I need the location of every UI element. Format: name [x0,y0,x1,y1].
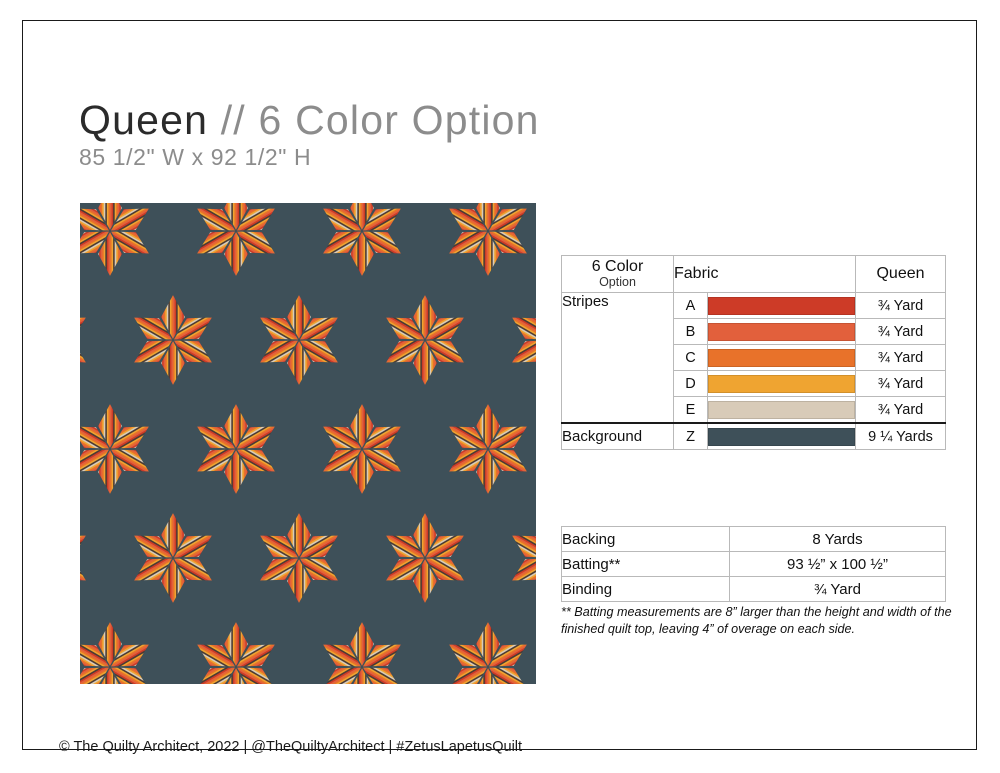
fabric-letter-b: B [674,319,708,345]
table-row: BackgroundZ9 ¼ Yards [562,423,946,450]
header-fabric: Fabric [674,256,856,293]
fabric-swatch-cell-a [708,293,856,319]
fabric-letter-e: E [674,397,708,424]
fabric-yardage-a: ¾ Yard [856,293,946,319]
fabric-letter-a: A [674,293,708,319]
backing-value: ¾ Yard [730,577,946,602]
backing-label: Backing [562,527,730,552]
color-swatch-b [708,323,855,341]
fabric-swatch-cell-e [708,397,856,424]
color-swatch-c [708,349,855,367]
backing-batting-binding-table: Backing8 YardsBatting**93 ½” x 100 ½”Bin… [561,526,946,602]
page-title-sub: // 6 Color Option [221,97,540,143]
table-row: Binding¾ Yard [562,577,946,602]
header-queen: Queen [856,256,946,293]
backing-value: 8 Yards [730,527,946,552]
page-sheet: Queen // 6 Color Option 85 1/2" W x 92 1… [22,20,977,750]
backing-label: Binding [562,577,730,602]
fabric-yardage-d: ¾ Yard [856,371,946,397]
color-swatch-z [708,428,855,446]
fabric-group-background: Background [562,423,674,450]
quilt-diagram [80,203,536,684]
table-row: StripesA¾ Yard [562,293,946,319]
fabric-yardage-b: ¾ Yard [856,319,946,345]
fabric-yardage-e: ¾ Yard [856,397,946,424]
title-block: Queen // 6 Color Option 85 1/2" W x 92 1… [79,99,719,171]
fabric-letter-z: Z [674,423,708,450]
backing-value: 93 ½” x 100 ½” [730,552,946,577]
quilt-preview-image [80,203,536,684]
fabric-group-stripes: Stripes [562,293,674,424]
fabric-swatch-cell-d [708,371,856,397]
backing-table-body: Backing8 YardsBatting**93 ½” x 100 ½”Bin… [562,527,946,602]
fabric-swatch-cell-c [708,345,856,371]
fabric-swatch-cell-z [708,423,856,450]
fabric-table-body: StripesA¾ YardB¾ YardC¾ YardD¾ YardE¾ Ya… [562,293,946,450]
fabric-letter-c: C [674,345,708,371]
fabric-table-header-row: 6 Color Option Fabric Queen [562,256,946,293]
backing-label: Batting** [562,552,730,577]
table-row: Batting**93 ½” x 100 ½” [562,552,946,577]
page-title-main: Queen [79,97,208,143]
fabric-swatch-cell-b [708,319,856,345]
color-swatch-a [708,297,855,315]
header-6-color-main: 6 Color [592,258,644,275]
page-subtitle-dimensions: 85 1/2" W x 92 1/2" H [79,144,719,171]
footer-credit: © The Quilty Architect, 2022 | @TheQuilt… [59,739,522,755]
page-title: Queen // 6 Color Option [79,99,719,142]
header-6-color-option: 6 Color Option [562,256,674,293]
fabric-letter-d: D [674,371,708,397]
fabric-yardage-c: ¾ Yard [856,345,946,371]
color-swatch-d [708,375,855,393]
table-row: Backing8 Yards [562,527,946,552]
fabric-yardage-z: 9 ¼ Yards [856,423,946,450]
color-swatch-e [708,401,855,419]
batting-footnote: ** Batting measurements are 8” larger th… [561,604,971,637]
fabric-requirements-table: 6 Color Option Fabric Queen StripesA¾ Ya… [561,255,946,450]
header-6-color-sub: Option [562,276,673,289]
